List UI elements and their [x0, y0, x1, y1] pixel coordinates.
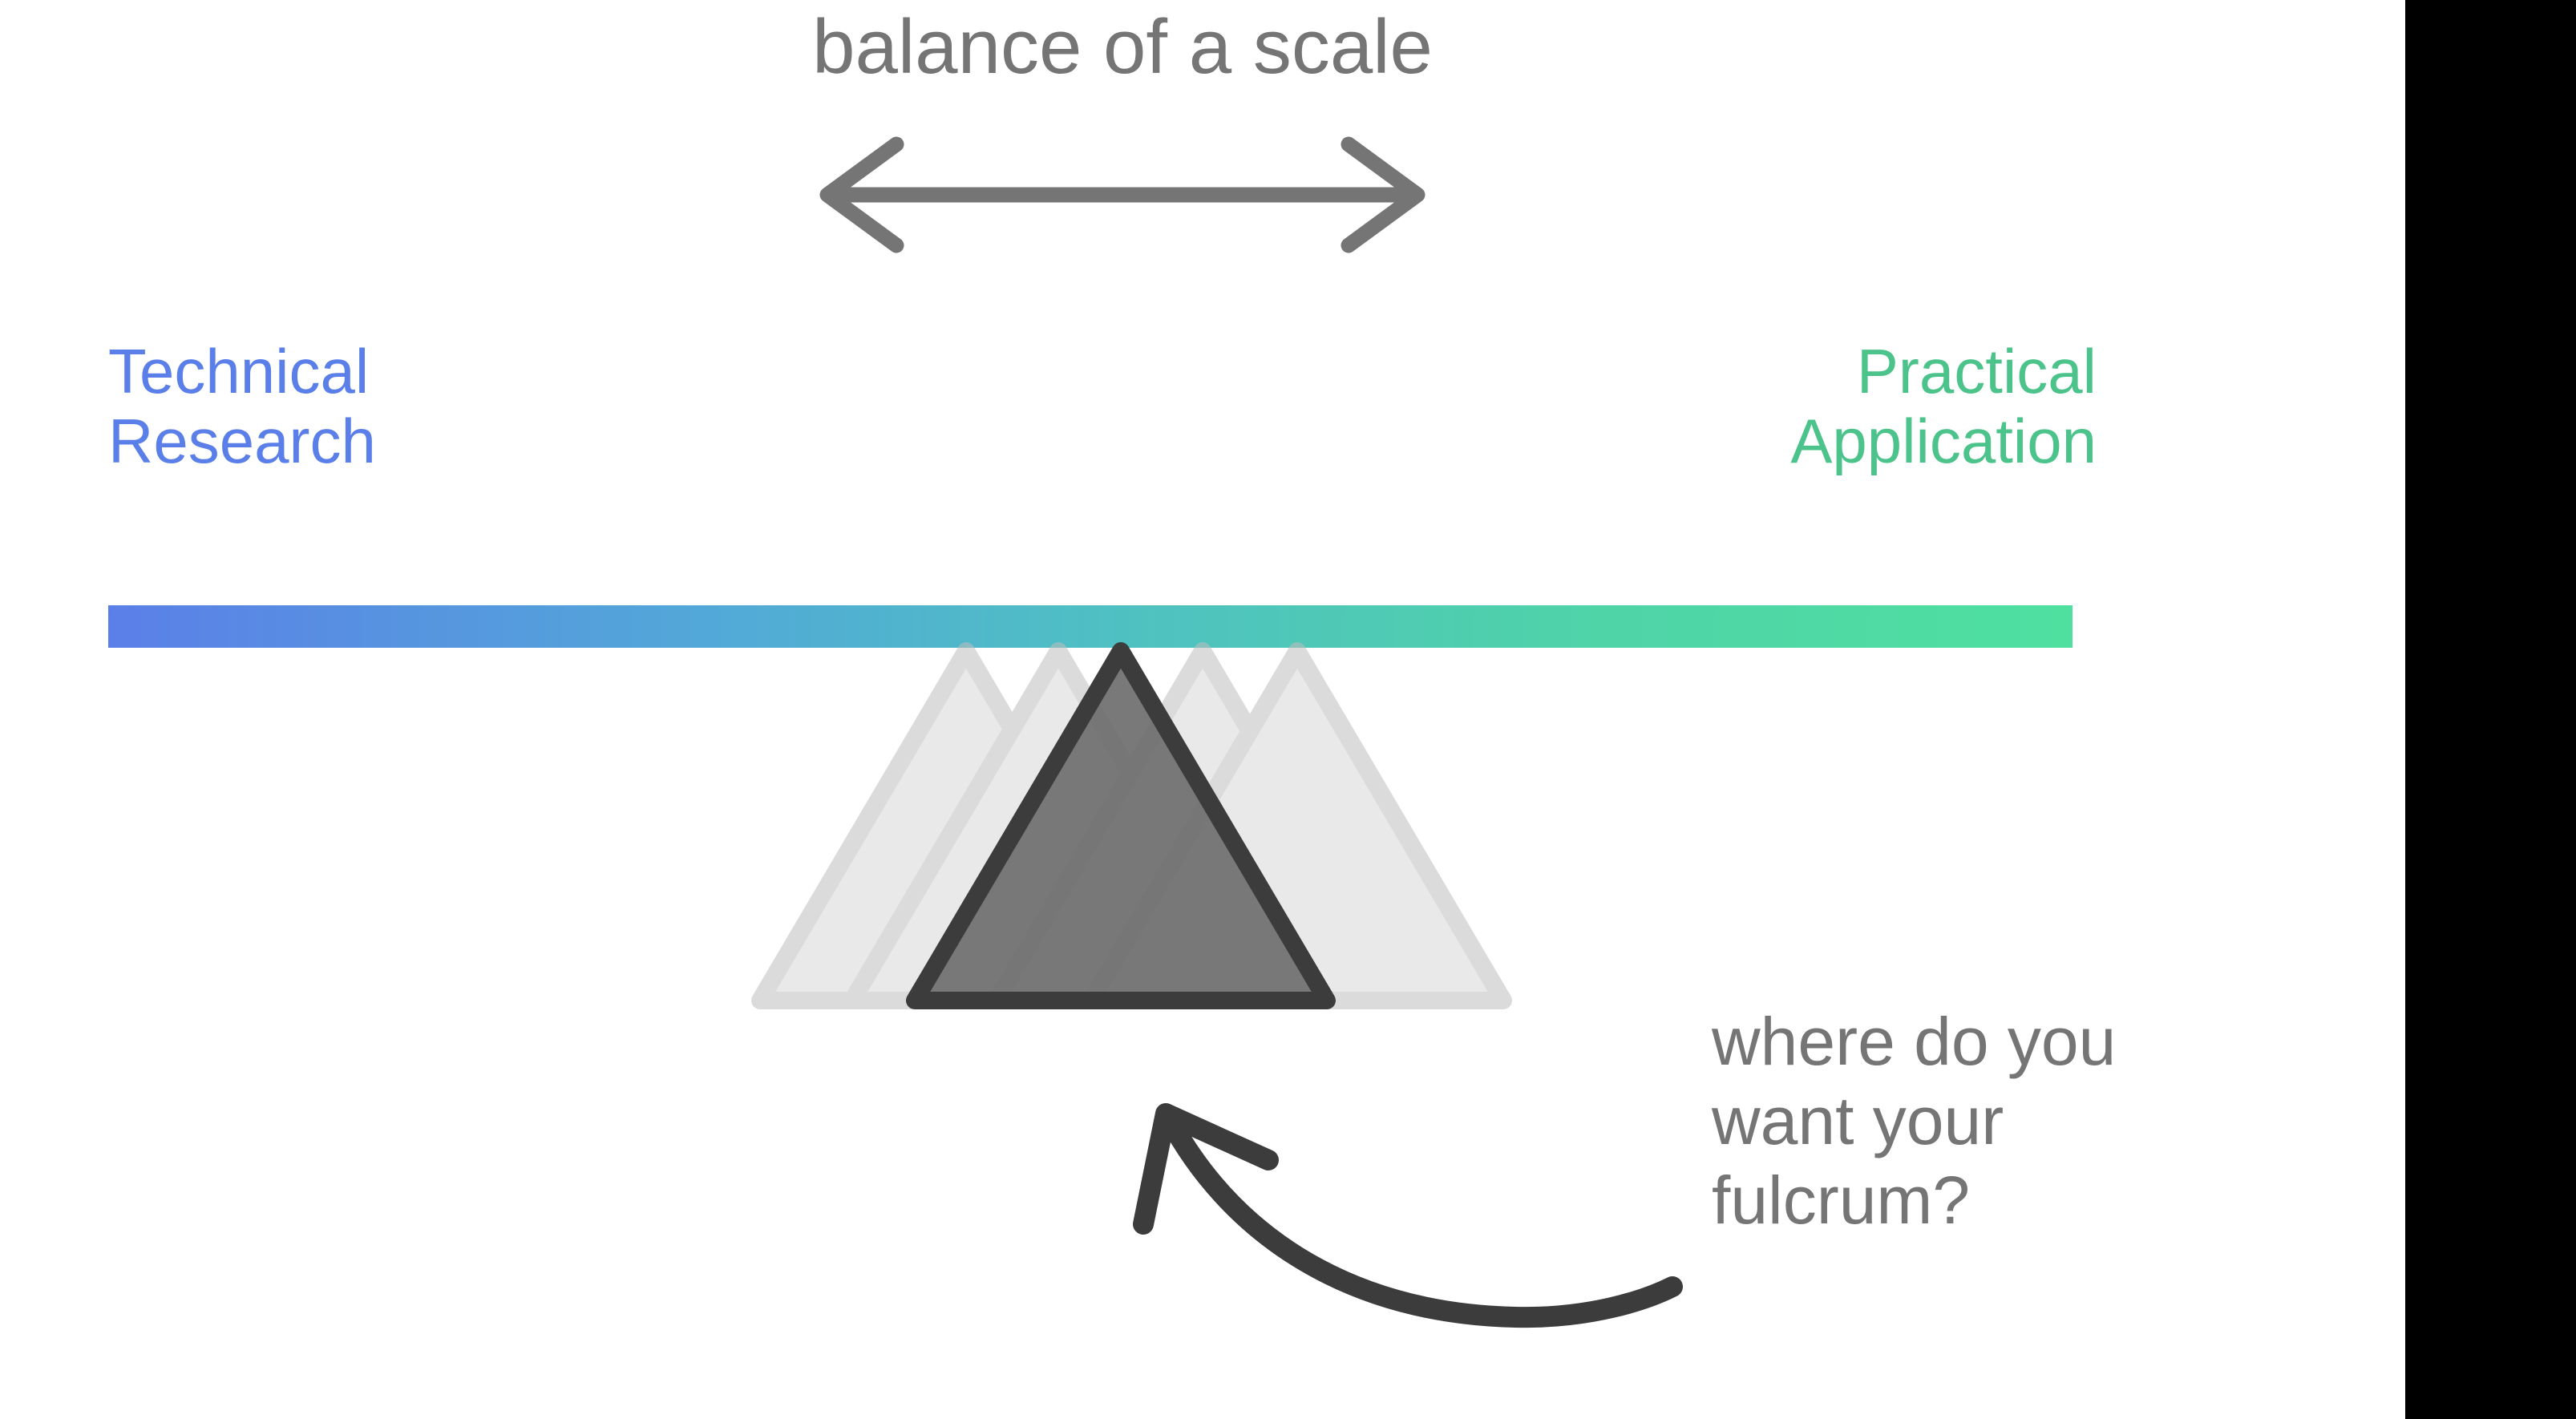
- pole-label-right: Practical Application: [1790, 337, 2097, 477]
- diagram-canvas: balance of a scale Technical Research Pr…: [0, 0, 2576, 1419]
- right-black-band: [2405, 0, 2576, 1419]
- double-headed-arrow: [802, 136, 1443, 257]
- pole-label-left: Technical Research: [108, 337, 376, 477]
- page-title: balance of a scale: [433, 2, 1812, 92]
- fulcrum-triangle-stack: [722, 633, 1539, 1018]
- callout-annotation-text: where do you want your fulcrum?: [1712, 1002, 2385, 1240]
- curved-up-left-arrow: [1130, 1086, 1692, 1343]
